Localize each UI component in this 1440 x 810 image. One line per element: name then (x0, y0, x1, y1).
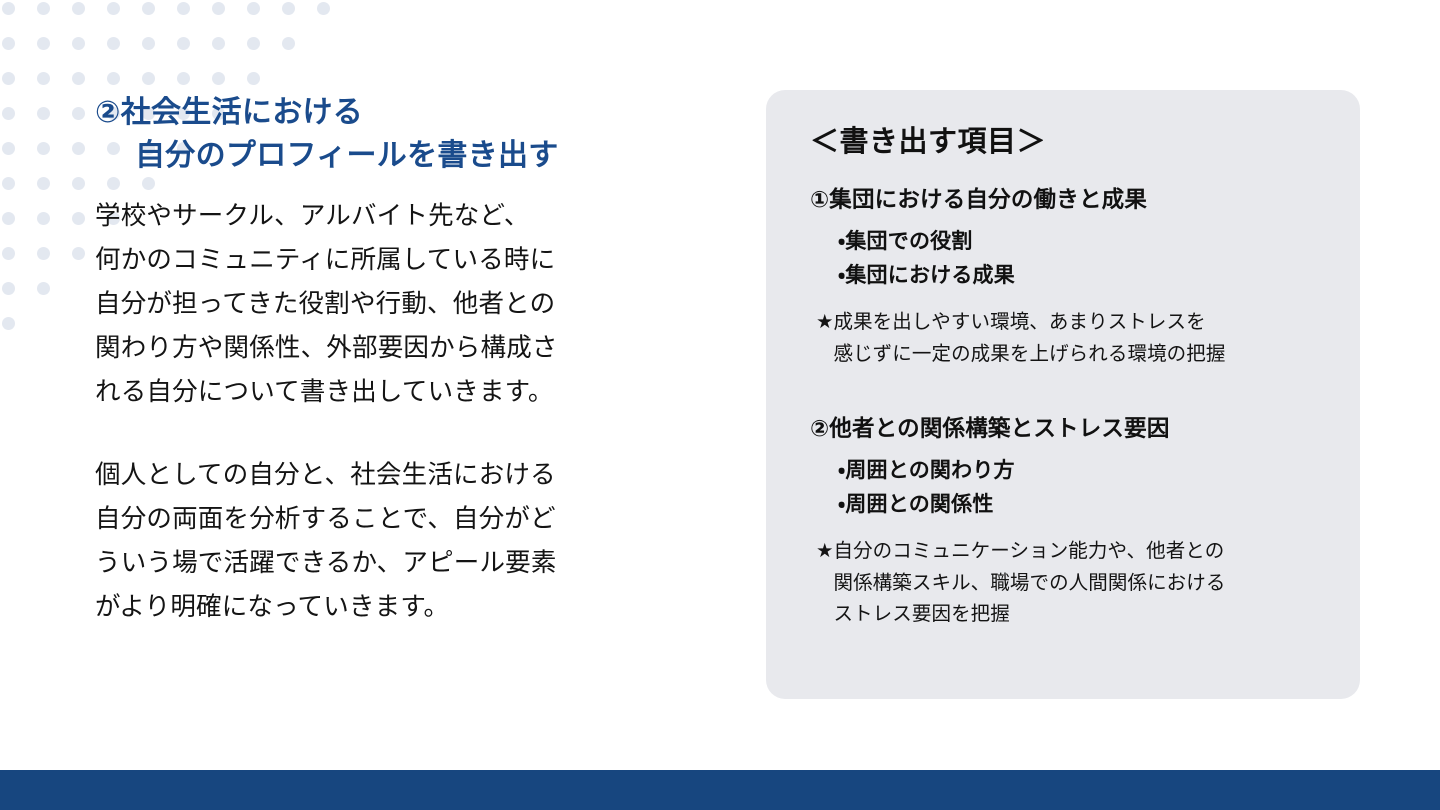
decorative-dot (282, 2, 295, 15)
section-heading-2: ②他者との関係構築とストレス要因 (810, 411, 1330, 443)
decorative-dot (177, 2, 190, 15)
decorative-dot (37, 107, 50, 120)
decorative-dot (212, 72, 225, 85)
decorative-dot (72, 142, 85, 155)
star-icon: ★ (816, 535, 833, 630)
decorative-dot (2, 212, 15, 225)
decorative-dot (72, 247, 85, 260)
decorative-dot (177, 72, 190, 85)
page-title: ②社会生活における自分のプロフィールを書き出す (95, 92, 685, 177)
decorative-dot (37, 2, 50, 15)
decorative-dot (72, 2, 85, 15)
decorative-dot (2, 37, 15, 50)
list-item: ・集団における成果 (838, 258, 1330, 292)
decorative-dot (2, 2, 15, 15)
decorative-dot (72, 72, 85, 85)
star-icon: ★ (816, 306, 833, 369)
card-section-1: ①集団における自分の働きと成果 ・集団での役割 ・集団における成果 ★ 成果を出… (810, 182, 1330, 369)
decorative-dot (72, 37, 85, 50)
decorative-dot (37, 37, 50, 50)
decorative-dot (72, 107, 85, 120)
decorative-dot (212, 37, 225, 50)
note-text-2: 自分のコミュニケーション能力や、他者との 関係構築スキル、職場での人間関係におけ… (833, 535, 1225, 630)
page-title-line-1: ②社会生活における (95, 95, 363, 130)
page-title-line-2: 自分のプロフィールを書き出す (95, 135, 685, 178)
decorative-dot (2, 282, 15, 295)
decorative-dot (107, 72, 120, 85)
decorative-dot (37, 142, 50, 155)
decorative-dot (107, 37, 120, 50)
body-paragraph-2: 個人としての自分と、社会生活における 自分の両面を分析することで、自分がど うい… (95, 454, 685, 629)
list-item: ・周囲との関わり方 (838, 453, 1330, 487)
left-content-column: ②社会生活における自分のプロフィールを書き出す 学校やサークル、アルバイト先など… (95, 92, 685, 630)
decorative-dot (247, 72, 260, 85)
decorative-dot (107, 2, 120, 15)
decorative-dot (142, 72, 155, 85)
decorative-dot (177, 37, 190, 50)
card-section-2: ②他者との関係構築とストレス要因 ・周囲との関わり方 ・周囲との関係性 ★ 自分… (810, 411, 1330, 630)
card-title: ＜書き出す項目＞ (810, 118, 1330, 160)
decorative-dot (212, 2, 225, 15)
bullet-list-1: ・集団での役割 ・集団における成果 (810, 224, 1330, 292)
decorative-dot (282, 37, 295, 50)
decorative-dot (2, 317, 15, 330)
decorative-dot (142, 37, 155, 50)
decorative-dot (37, 177, 50, 190)
decorative-dot (72, 212, 85, 225)
decorative-dot (142, 2, 155, 15)
note-text-1: 成果を出しやすい環境、あまりストレスを 感じずに一定の成果を上げられる環境の把握 (833, 306, 1225, 369)
bullet-list-2: ・周囲との関わり方 ・周囲との関係性 (810, 453, 1330, 521)
note-2: ★ 自分のコミュニケーション能力や、他者との 関係構築スキル、職場での人間関係に… (810, 535, 1330, 630)
decorative-dot (247, 2, 260, 15)
decorative-dot (2, 247, 15, 260)
decorative-dot (2, 142, 15, 155)
decorative-dot (72, 177, 85, 190)
section-heading-1: ①集団における自分の働きと成果 (810, 182, 1330, 214)
decorative-dot (37, 72, 50, 85)
decorative-dot (2, 107, 15, 120)
decorative-dot (37, 247, 50, 260)
decorative-dot (2, 72, 15, 85)
body-paragraph-1: 学校やサークル、アルバイト先など、 何かのコミュニティに所属している時に 自分が… (95, 195, 685, 414)
decorative-dot (2, 177, 15, 190)
decorative-dot (247, 37, 260, 50)
note-1: ★ 成果を出しやすい環境、あまりストレスを 感じずに一定の成果を上げられる環境の… (810, 306, 1330, 369)
decorative-dot (37, 212, 50, 225)
decorative-dot (317, 2, 330, 15)
bottom-accent-bar (0, 770, 1440, 810)
items-card: ＜書き出す項目＞ ①集団における自分の働きと成果 ・集団での役割 ・集団における… (766, 90, 1360, 699)
decorative-dot (37, 282, 50, 295)
list-item: ・集団での役割 (838, 224, 1330, 258)
list-item: ・周囲との関係性 (838, 487, 1330, 521)
